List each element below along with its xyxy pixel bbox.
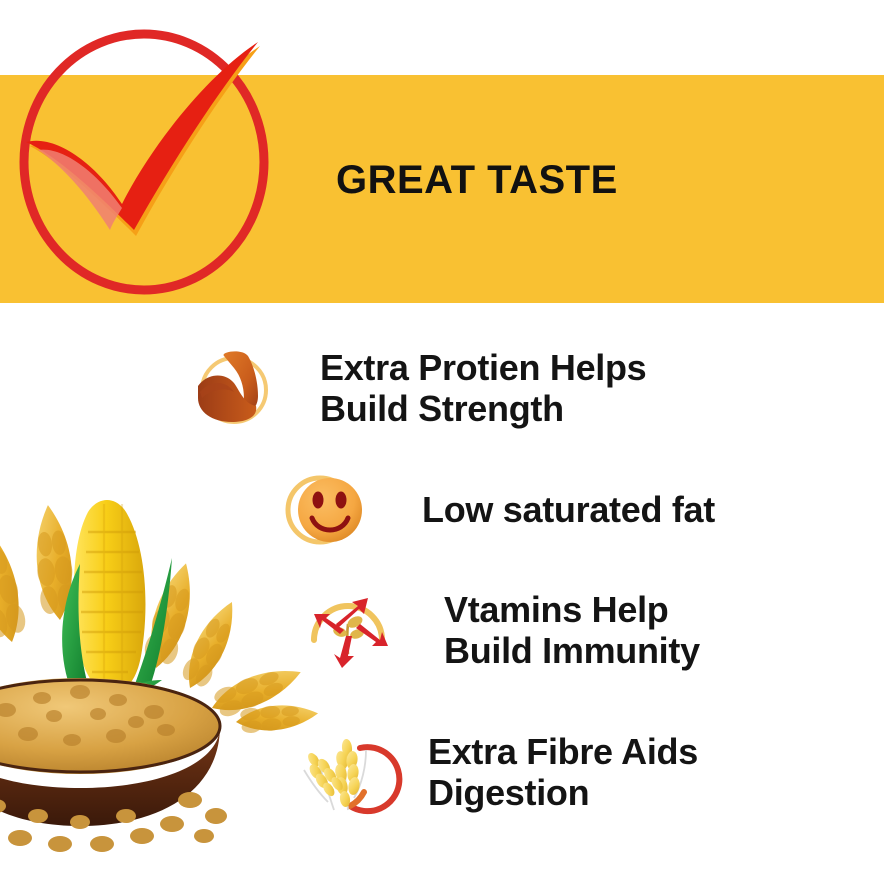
- red-check-circle-icon: [12, 22, 276, 296]
- feature-row: Vtamins Help Build Immunity: [302, 584, 700, 676]
- corn-cob: [74, 500, 146, 692]
- promo-poster: GREAT TASTE: [0, 0, 884, 884]
- feature-row: Low saturated fat: [280, 464, 715, 556]
- wheat-in-circle-icon: [288, 726, 380, 818]
- feature-label: Low saturated fat: [422, 489, 715, 530]
- feature-label: Vtamins Help Build Immunity: [444, 589, 700, 671]
- feature-list: Extra Protien Helps Build Strength: [190, 336, 884, 884]
- feature-label: Extra Protien Helps Build Strength: [320, 347, 646, 429]
- feature-label: Extra Fibre Aids Digestion: [428, 731, 698, 813]
- page-title: GREAT TASTE: [336, 158, 618, 203]
- flexed-biceps-icon: [190, 342, 282, 434]
- feature-row: Extra Fibre Aids Digestion: [288, 726, 698, 818]
- four-arrows-sprout-icon: [302, 584, 394, 676]
- feature-row: Extra Protien Helps Build Strength: [190, 342, 646, 434]
- smiley-face-icon: [280, 464, 372, 556]
